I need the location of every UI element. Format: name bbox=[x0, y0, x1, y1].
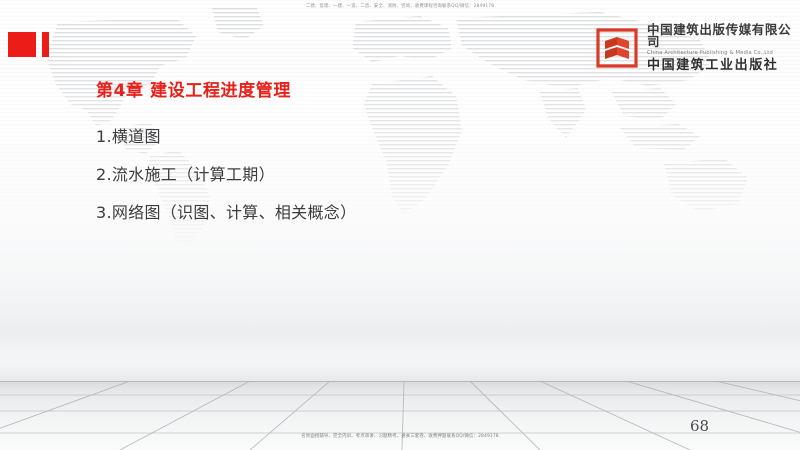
publisher-logo-text: 中国建筑出版传媒有限公司 China Architecture Publishi… bbox=[647, 24, 795, 73]
publisher-company-cn: 中国建筑出版传媒有限公司 bbox=[647, 24, 795, 49]
agenda-item-1: 1.横道图 bbox=[96, 123, 656, 147]
agenda-item-2: 2.流水施工（计算工期） bbox=[96, 161, 656, 185]
red-accent-bar bbox=[42, 32, 49, 57]
red-accent-block bbox=[8, 32, 36, 57]
publisher-logo: 中国建筑出版传媒有限公司 China Architecture Publishi… bbox=[595, 25, 795, 71]
china-architecture-publishing-logo-icon bbox=[595, 27, 639, 69]
agenda-item-3: 3.网络图（识图、计算、相关概念） bbox=[96, 199, 656, 223]
watermark-top: 二建、监理、一建、一造、二造、安全、消防、咨询、收费课程咨询联系QQ/微信：28… bbox=[0, 5, 800, 9]
agenda-list: 1.横道图 2.流水施工（计算工期） 3.网络图（识图、计算、相关概念） bbox=[96, 123, 656, 223]
publisher-press-cn: 中国建筑工业出版社 bbox=[647, 59, 795, 72]
wall-floor-shadow bbox=[0, 352, 800, 382]
page-number: 68 bbox=[690, 417, 709, 435]
slide-content: 第4章 建设工程进度管理 1.横道图 2.流水施工（计算工期） 3.网络图（识图… bbox=[96, 76, 656, 223]
publisher-company-en: China Architecture Publishing & Media Co… bbox=[647, 51, 795, 56]
watermark-bottom: 名师面授辅导、完全内训、考点串讲、习题精考、通关三套卷、收费押题联系QQ/微信：… bbox=[0, 435, 800, 439]
slide-title: 第4章 建设工程进度管理 bbox=[96, 76, 656, 101]
presentation-slide: 二建、监理、一建、一造、二造、安全、消防、咨询、收费课程咨询联系QQ/微信：28… bbox=[0, 0, 800, 450]
perspective-floor bbox=[0, 381, 800, 450]
